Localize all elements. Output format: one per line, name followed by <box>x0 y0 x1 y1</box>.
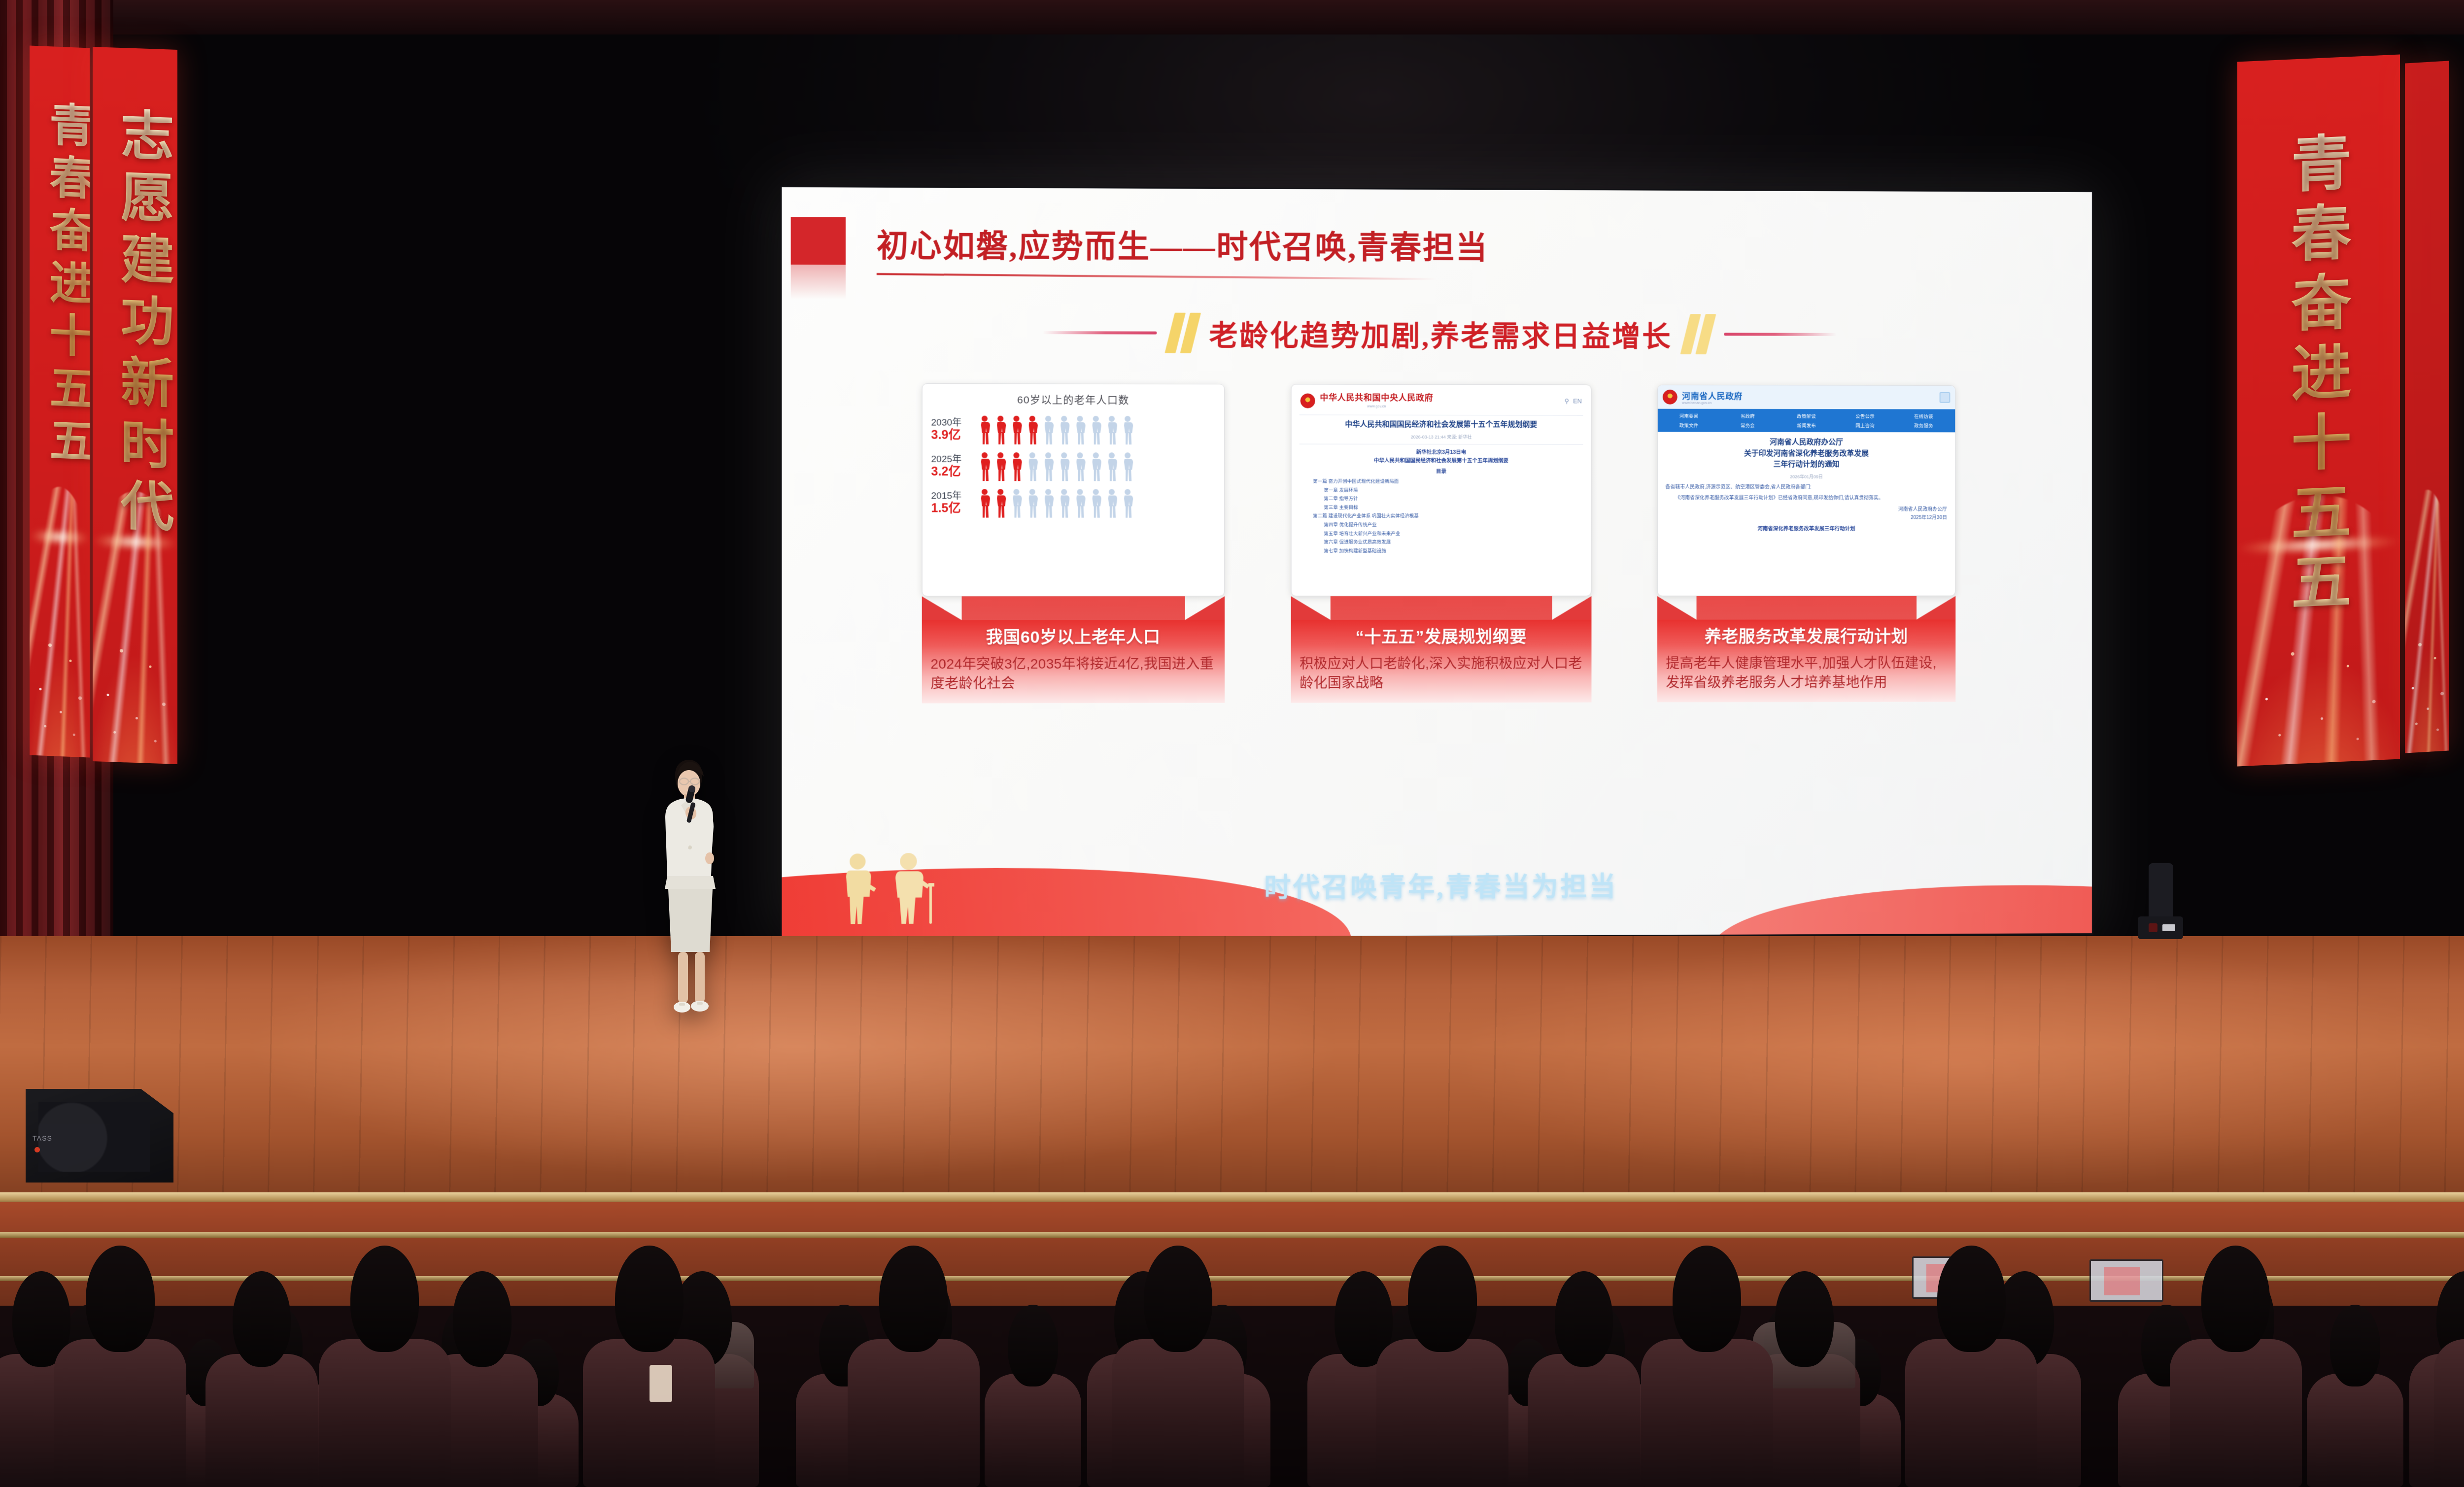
doc-center-headline: 中华人民共和国国民经济和社会发展第十五个五年规划纲要 <box>1299 419 1583 431</box>
language-toggle[interactable]: EN <box>1573 396 1582 406</box>
doc-center-toc-label: 目录 <box>1299 468 1583 476</box>
person-icon <box>1010 415 1023 445</box>
header-red-block <box>791 217 846 265</box>
audience-area <box>0 1202 2464 1487</box>
stage-monitor-speaker: TASS <box>26 1089 173 1183</box>
person-icon <box>978 488 991 518</box>
banner-panel-right: 青春奋进十五五 <box>2237 55 2400 767</box>
wall-trim-upper <box>0 1232 2464 1238</box>
info-card-1-body: 2024年突破3亿,2035年将接近4亿,我国进入重度老龄化社会 <box>930 654 1215 693</box>
person-icon <box>1058 488 1070 518</box>
person-icon <box>1089 415 1102 445</box>
audience-head <box>2201 1246 2270 1352</box>
toc-item[interactable]: 第五章 培育壮大新兴产业和未来产业 <box>1313 529 1583 538</box>
banner-text-right: 青春奋进十五五 <box>2272 130 2359 622</box>
audience-phone <box>650 1365 672 1402</box>
person-icon <box>1041 451 1054 482</box>
person-icon <box>1026 451 1038 482</box>
doc-center-body: 中华人民共和国中央人民政府 www.gov.cn ⚲ EN 中华人民共和国国民经… <box>1291 384 1591 560</box>
audience-laptop <box>2089 1259 2163 1302</box>
ceiling-trim <box>0 0 2464 34</box>
info-columns: 60岁以上的老年人口数 2030年 3.9亿 <box>782 383 2092 704</box>
audience-seat <box>1112 1339 1244 1487</box>
audience-seat <box>1528 1354 1640 1487</box>
doc-right-header: 河南省人民政府 www.henan.gov.cn <box>1657 385 1954 409</box>
doc-center-toolbar: ⚲ EN <box>1565 396 1582 406</box>
led-presentation-screen: 初心如磐,应势而生——时代召唤,青春担当 老龄化趋势加剧,养老需求日益增长 60… <box>780 186 2093 940</box>
person-icon <box>1026 415 1038 445</box>
audience-seat <box>54 1339 186 1487</box>
doc-right-brandbar: 河南省人民政府 www.henan.gov.cn <box>1662 389 1950 406</box>
banner-panel-left-outer: 青春奋进十五五 <box>30 45 90 757</box>
audience-head <box>1775 1271 1834 1367</box>
nav-item[interactable]: 网上咨询 <box>1837 422 1893 429</box>
person-icon <box>1026 488 1038 518</box>
audience-head <box>86 1246 154 1352</box>
doc-center-lead-title: 中华人民共和国国民经济和社会发展第十五个五年规划纲要 <box>1299 457 1583 466</box>
person-icon <box>1041 488 1054 518</box>
chart-category: 2025年 <box>931 455 973 465</box>
light-base <box>2138 916 2183 939</box>
toc-item[interactable]: 第一章 发展环境 <box>1313 486 1583 495</box>
search-icon[interactable]: ⚲ <box>1565 396 1570 406</box>
doc-right-body: 河南省人民政府办公厅关于印发河南省深化养老服务改革发展三年行动计划的通知 202… <box>1657 432 1954 539</box>
doc-right-navbar[interactable]: 河南要闻省政府政策解读公告公示在线访谈政策文件常务会新闻发布网上咨询政务服务 <box>1657 409 1954 433</box>
headline-line: 三年行动计划的通知 <box>1665 459 1947 470</box>
nav-item[interactable]: 河南要闻 <box>1660 412 1717 419</box>
nav-item[interactable]: 公告公示 <box>1837 412 1893 419</box>
person-icon <box>1073 451 1086 482</box>
chart-value: 3.2亿 <box>931 465 973 479</box>
person-icon <box>978 415 991 445</box>
audience-seat <box>985 1374 1081 1487</box>
doc-right-signer: 河南省人民政府办公厅 <box>1665 506 1947 514</box>
audience-seat <box>319 1339 451 1487</box>
doc-center-lead: 新华社北京3月13日电 <box>1299 448 1583 457</box>
qr-code-icon[interactable] <box>1939 392 1950 403</box>
toc-item[interactable]: 第六章 促进服务业优质高效发展 <box>1313 538 1583 547</box>
doc-right-attachment-title: 河南省深化养老服务改革发展三年行动计划 <box>1665 525 1947 534</box>
audience-head <box>1937 1246 2006 1352</box>
person-icon <box>1105 451 1118 482</box>
info-card-2-heading: “十五五”发展规划纲要 <box>1300 627 1582 648</box>
doc-right-recipients: 各省辖市人民政府,济源示范区、航空港区管委会,省人民政府各部门: <box>1665 483 1947 492</box>
info-card-3-body: 提高老年人健康管理水平,加强人才队伍建设,发挥省级养老服务人才培养基地作用 <box>1666 653 1947 693</box>
gov-doc-right-thumbnail: 河南省人民政府 www.henan.gov.cn 河南要闻省政府政策解读公告公示… <box>1657 385 1955 596</box>
info-card-3-heading: 养老服务改革发展行动计划 <box>1666 626 1947 647</box>
info-card-2-body: 积极应对人口老龄化,深入实施积极应对人口老龄化国家战略 <box>1300 653 1582 693</box>
auditorium-stage-photo: 青春奋进十五五 志愿建功新时代 青春奋进十五五 初心如磐,应势而生——时代召唤,… <box>0 0 2464 1487</box>
arrow-connector-3 <box>1657 596 1955 620</box>
national-emblem-icon <box>1300 393 1315 408</box>
divider <box>1299 415 1583 416</box>
audience-head <box>453 1271 512 1367</box>
toc-item[interactable]: 第一篇 奋力开创中国式现代化建设新局面 <box>1313 477 1583 486</box>
chart-value: 3.9亿 <box>931 428 973 442</box>
person-icon <box>978 451 991 482</box>
light-display-icon <box>2149 923 2157 932</box>
moving-head-stage-light <box>2138 863 2183 947</box>
slide-footer-flourish: 时代召唤青年,青春当为担当 <box>782 830 2092 938</box>
audience-seat <box>848 1339 980 1487</box>
person-icon <box>1121 415 1134 445</box>
divider <box>1299 443 1583 444</box>
chart-row: 2025年 3.2亿 <box>922 448 1224 485</box>
toc-item[interactable]: 第七章 加快构建新型基础设施 <box>1313 547 1583 556</box>
gov-doc-center-thumbnail: 中华人民共和国中央人民政府 www.gov.cn ⚲ EN 中华人民共和国国民经… <box>1291 384 1591 596</box>
info-card-1: 我国60岁以上老年人口 2024年突破3亿,2035年将接近4亿,我国进入重度老… <box>922 620 1224 703</box>
nav-item[interactable]: 常务会 <box>1719 422 1776 429</box>
nav-item[interactable]: 政策文件 <box>1660 422 1717 429</box>
audience-head <box>1144 1246 1212 1352</box>
national-emblem-icon <box>1662 390 1677 405</box>
banner-text-left-outer: 青春奋进十五五 <box>35 100 90 471</box>
info-column-1: 60岁以上的老年人口数 2030年 3.9亿 <box>902 383 1244 704</box>
chart-icons <box>978 415 1133 446</box>
header-red-block-fade <box>791 265 846 300</box>
person-icon <box>1089 488 1102 518</box>
audience-seat <box>2307 1374 2403 1487</box>
info-card-3: 养老服务改革发展行动计划 提高老年人健康管理水平,加强人才队伍建设,发挥省级养老… <box>1657 619 1955 702</box>
person-icon <box>1058 451 1070 482</box>
person-icon <box>1105 415 1118 445</box>
info-column-3: 河南省人民政府 www.henan.gov.cn 河南要闻省政府政策解读公告公示… <box>1638 385 1975 703</box>
person-icon <box>994 451 1007 482</box>
person-icon <box>1041 415 1054 445</box>
slide-tagline: 时代召唤青年,青春当为担当 <box>782 863 2092 907</box>
audience-seat <box>2170 1339 2302 1487</box>
chart-row: 2015年 1.5亿 <box>922 485 1224 522</box>
slide-canvas: 初心如磐,应势而生——时代召唤,青春担当 老龄化趋势加剧,养老需求日益增长 60… <box>782 187 2092 938</box>
quote-mark-left-icon <box>1170 313 1196 353</box>
toc-item[interactable]: 第二章 指导方针 <box>1313 495 1583 504</box>
doc-right-site-url: www.henan.gov.cn <box>1682 402 1743 405</box>
doc-right-headline: 河南省人民政府办公厅关于印发河南省深化养老服务改革发展三年行动计划的通知 <box>1665 437 1947 471</box>
title-underline <box>877 273 1437 280</box>
audience-seat <box>583 1339 715 1487</box>
person-icon <box>1010 488 1023 518</box>
subtitle-rule-left <box>1043 331 1157 335</box>
person-icon <box>1058 415 1070 445</box>
chart-value: 1.5亿 <box>931 502 973 515</box>
audience-seat <box>205 1354 318 1487</box>
presenter-speaker <box>650 758 723 1063</box>
doc-center-header: 中华人民共和国中央人民政府 www.gov.cn ⚲ EN <box>1299 389 1583 414</box>
person-icon <box>994 415 1007 445</box>
doc-right-text: 《河南省深化养老服务改革发展三年行动计划》已经省政府同意,现印发给你们,请认真贯… <box>1665 494 1947 503</box>
nav-item[interactable]: 政策解读 <box>1778 412 1835 419</box>
person-icon <box>1105 488 1118 518</box>
chart-category: 2030年 <box>931 418 973 428</box>
audience-head <box>350 1246 419 1352</box>
audience-head <box>2330 1305 2380 1386</box>
person-icon <box>1073 488 1086 518</box>
audience-head <box>615 1246 684 1352</box>
info-card-1-heading: 我国60岁以上老年人口 <box>930 627 1215 648</box>
chart-icons <box>978 451 1133 482</box>
arrow-connector-2 <box>1291 596 1591 620</box>
banner-panel-right-edge <box>2405 61 2449 753</box>
quote-mark-right-icon <box>1685 314 1711 354</box>
audience-seat <box>2434 1339 2464 1487</box>
nav-item[interactable]: 省政府 <box>1719 412 1776 419</box>
stage-floor <box>0 936 2464 1212</box>
headline-line: 关于印发河南省深化养老服务改革发展 <box>1665 448 1947 459</box>
chart-row-label: 2015年 1.5亿 <box>931 491 973 515</box>
chart-rows: 2030年 3.9亿 <box>922 411 1224 521</box>
doc-center-meta: 2026-03-13 21:44 来源: 新华社 <box>1299 434 1583 441</box>
banner-panel-left-inner: 志愿建功新时代 <box>93 47 177 764</box>
speaker-grill <box>38 1102 150 1172</box>
subtitle-rule-right <box>1724 333 1836 336</box>
doc-right-date: 2026年01月09日 <box>1665 473 1947 480</box>
light-yoke <box>2149 863 2173 917</box>
nav-item[interactable]: 政务服务 <box>1895 422 1952 429</box>
chart-category: 2015年 <box>931 491 973 502</box>
chart-row-label: 2025年 3.2亿 <box>931 455 973 479</box>
audience-head <box>1555 1271 1613 1367</box>
audience-head <box>1008 1305 1058 1386</box>
slide-subtitle: 老龄化趋势加剧,养老需求日益增长 <box>1209 312 1672 355</box>
toc-item[interactable]: 第二篇 建设现代化产业体系 巩固壮大实体经济根基 <box>1313 512 1583 521</box>
doc-center-site-name: 中华人民共和国中央人民政府 <box>1320 392 1433 405</box>
person-icon <box>1089 451 1102 482</box>
nav-item[interactable]: 新闻发布 <box>1778 422 1835 429</box>
person-icon <box>1121 451 1134 482</box>
light-buttons <box>2162 924 2175 931</box>
toc-item[interactable]: 第四章 优化提升传统产业 <box>1313 521 1583 530</box>
arrow-connector-1 <box>922 596 1224 620</box>
pictogram-chart-thumbnail: 60岁以上的老年人口数 2030年 3.9亿 <box>922 383 1224 596</box>
person-icon <box>994 488 1007 518</box>
chart-row-label: 2030年 3.9亿 <box>931 418 973 442</box>
slide-title: 初心如磐,应势而生——时代召唤,青春担当 <box>877 220 1488 268</box>
chart-row: 2030年 3.9亿 <box>922 411 1224 448</box>
subtitle-row: 老龄化趋势加剧,养老需求日益增长 <box>782 311 2092 356</box>
audience-seat <box>1376 1339 1508 1487</box>
doc-center-toc: 第一篇 奋力开创中国式现代化建设新局面第一章 发展环境第二章 指导方针第三章 主… <box>1299 477 1583 555</box>
banner-text-left-inner: 志愿建功新时代 <box>103 106 177 541</box>
audience-head <box>1673 1246 1741 1352</box>
toc-item[interactable]: 第三章 主要目标 <box>1313 504 1583 512</box>
audience-seat <box>1905 1339 2037 1487</box>
speaker-brand-label: TASS <box>33 1134 52 1142</box>
doc-right-site-name: 河南省人民政府 <box>1682 389 1743 402</box>
person-icon <box>1073 415 1086 445</box>
doc-right-toolbar <box>1939 392 1950 403</box>
info-card-2: “十五五”发展规划纲要 积极应对人口老龄化,深入实施积极应对人口老龄化国家战略 <box>1291 620 1591 703</box>
audience-seat <box>1641 1339 1773 1487</box>
chart-icons <box>978 488 1133 518</box>
nav-item[interactable]: 在线访谈 <box>1895 412 1952 419</box>
audience-head <box>1408 1246 1476 1352</box>
audience-head <box>879 1246 948 1352</box>
person-icon <box>1010 451 1023 482</box>
info-column-2: 中华人民共和国中央人民政府 www.gov.cn ⚲ EN 中华人民共和国国民经… <box>1271 384 1611 703</box>
doc-right-sign-date: 2025年12月30日 <box>1665 514 1947 522</box>
person-icon <box>1121 488 1134 519</box>
light-streaks <box>30 485 90 758</box>
chart-title: 60岁以上的老年人口数 <box>922 384 1224 412</box>
light-streaks <box>2405 488 2449 753</box>
speaker-power-led <box>34 1147 40 1152</box>
doc-center-site-url: www.gov.cn <box>1320 405 1433 410</box>
headline-line: 河南省人民政府办公厅 <box>1665 437 1947 448</box>
audience-head <box>233 1271 291 1367</box>
